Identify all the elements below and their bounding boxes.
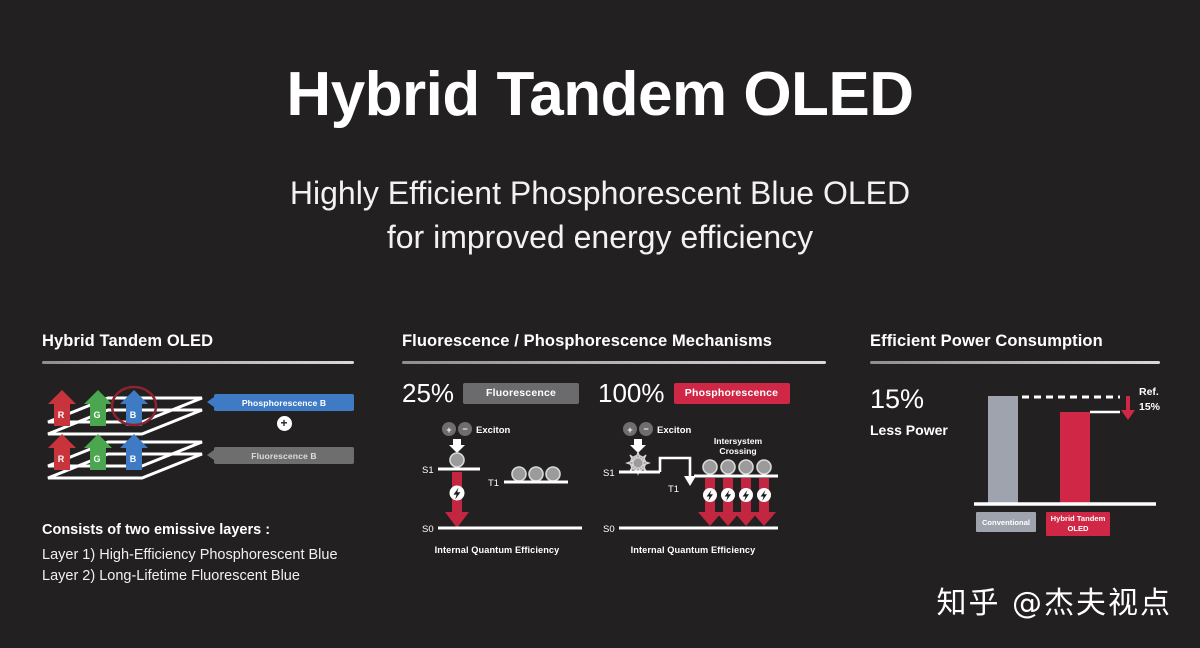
- phosphorescence-percent: 100%: [598, 380, 665, 406]
- delta-arrow-icon: [1121, 396, 1135, 420]
- callout-phosphorescence-b: Phosphorescence B: [214, 394, 354, 411]
- panel-heading-power: Efficient Power Consumption: [870, 332, 1160, 351]
- svg-text:R: R: [58, 454, 65, 464]
- svg-text:OLED: OLED: [1067, 524, 1089, 533]
- power-stat: 15% Less Power: [870, 386, 948, 438]
- mechanism-phosphorescence: 100% Phosphorescence + − Exciton: [598, 380, 798, 540]
- panel-divider: [870, 361, 1160, 364]
- svg-text:T1: T1: [488, 478, 499, 489]
- layer-note: Consists of two emissive layers : Layer …: [42, 522, 354, 586]
- page-title: Hybrid Tandem OLED: [0, 62, 1200, 127]
- svg-text:Exciton: Exciton: [476, 425, 511, 436]
- layer-note-title: Consists of two emissive layers :: [42, 522, 354, 538]
- phosphorescence-jablonski-diagram: + − Exciton: [598, 420, 798, 540]
- fluorescence-tag: Fluorescence: [463, 383, 579, 404]
- power-percent: 15%: [870, 386, 948, 413]
- panel-divider: [42, 361, 354, 364]
- watermark: 知乎 @杰夫视点: [936, 578, 1172, 622]
- svg-text:G: G: [93, 454, 100, 464]
- page-subtitle: Highly Efficient Phosphorescent Blue OLE…: [0, 171, 1200, 259]
- ref-value: 15%: [1139, 401, 1160, 413]
- panel-power-consumption: Efficient Power Consumption 15% Less Pow…: [870, 332, 1160, 542]
- svg-text:−: −: [643, 424, 648, 434]
- mechanism-fluorescence-header: 25% Fluorescence: [402, 380, 602, 406]
- svg-text:−: −: [462, 424, 467, 434]
- svg-text:Conventional: Conventional: [982, 518, 1030, 527]
- svg-text:B: B: [130, 410, 137, 420]
- fluorescence-caption: Internal Quantum Efficiency: [402, 545, 592, 555]
- power-chart-area: 15% Less Power: [870, 382, 1160, 542]
- panel-divider: [402, 361, 826, 364]
- svg-text:Hybrid Tandem: Hybrid Tandem: [1051, 514, 1106, 523]
- oled-stack-icon: R G B R G B: [42, 382, 212, 498]
- svg-text:S0: S0: [603, 524, 615, 535]
- power-bar-chart: Conventional Hybrid Tandem OLED Ref. 15%: [970, 382, 1160, 537]
- oled-stack-illustration: R G B R G B: [42, 380, 354, 500]
- panel-mechanisms: Fluorescence / Phosphorescence Mechanism…: [402, 332, 826, 380]
- callout-fluorescence-b: Fluorescence B: [214, 447, 354, 464]
- mechanism-fluorescence: 25% Fluorescence + − Exciton: [402, 380, 602, 540]
- svg-text:B: B: [130, 454, 137, 464]
- phosphorescence-diagram-icon: + − Exciton: [598, 420, 788, 542]
- phosphorescence-caption: Internal Quantum Efficiency: [598, 545, 788, 555]
- bar-conventional: [988, 396, 1018, 504]
- svg-text:S1: S1: [422, 465, 434, 476]
- panel-heading-mechanisms: Fluorescence / Phosphorescence Mechanism…: [402, 332, 826, 351]
- svg-text:Exciton: Exciton: [657, 425, 692, 436]
- svg-text:+: +: [446, 425, 451, 435]
- svg-text:S0: S0: [422, 524, 434, 535]
- svg-text:+: +: [627, 425, 632, 435]
- infographic-page: Hybrid Tandem OLED Highly Efficient Phos…: [0, 0, 1200, 648]
- callout-phosphorescence-label: Phosphorescence B: [242, 398, 326, 408]
- svg-text:Intersystem: Intersystem: [714, 436, 763, 446]
- subtitle-line-1: Highly Efficient Phosphorescent Blue OLE…: [0, 171, 1200, 215]
- panel-heading-stack: Hybrid Tandem OLED: [42, 332, 354, 351]
- fluorescence-jablonski-diagram: + − Exciton S1: [402, 420, 602, 540]
- plus-icon: +: [277, 416, 292, 431]
- bar-hybrid-tandem: [1060, 412, 1090, 504]
- ref-label: Ref.: [1139, 386, 1159, 398]
- mechanism-phosphorescence-header: 100% Phosphorescence: [598, 380, 798, 406]
- stack-callouts: Phosphorescence B + Fluorescence B: [214, 394, 354, 464]
- svg-text:G: G: [93, 410, 100, 420]
- svg-text:S1: S1: [603, 468, 615, 479]
- svg-text:T1: T1: [668, 484, 679, 495]
- layer-note-line-1: Layer 1) High-Efficiency Phosphorescent …: [42, 545, 354, 566]
- svg-text:Crossing: Crossing: [719, 446, 756, 456]
- layer-note-line-2: Layer 2) Long-Lifetime Fluorescent Blue: [42, 566, 354, 587]
- phosphorescence-tag: Phosphorescence: [674, 383, 790, 404]
- panel-hybrid-tandem-oled: Hybrid Tandem OLED R G: [42, 332, 354, 586]
- callout-fluorescence-label: Fluorescence B: [251, 451, 316, 461]
- subtitle-line-2: for improved energy efficiency: [0, 215, 1200, 259]
- fluorescence-percent: 25%: [402, 380, 454, 406]
- hero-section: Hybrid Tandem OLED Highly Efficient Phos…: [0, 0, 1200, 259]
- fluorescence-diagram-icon: + − Exciton S1: [402, 420, 592, 542]
- power-percent-label: Less Power: [870, 422, 948, 438]
- svg-text:R: R: [58, 410, 65, 420]
